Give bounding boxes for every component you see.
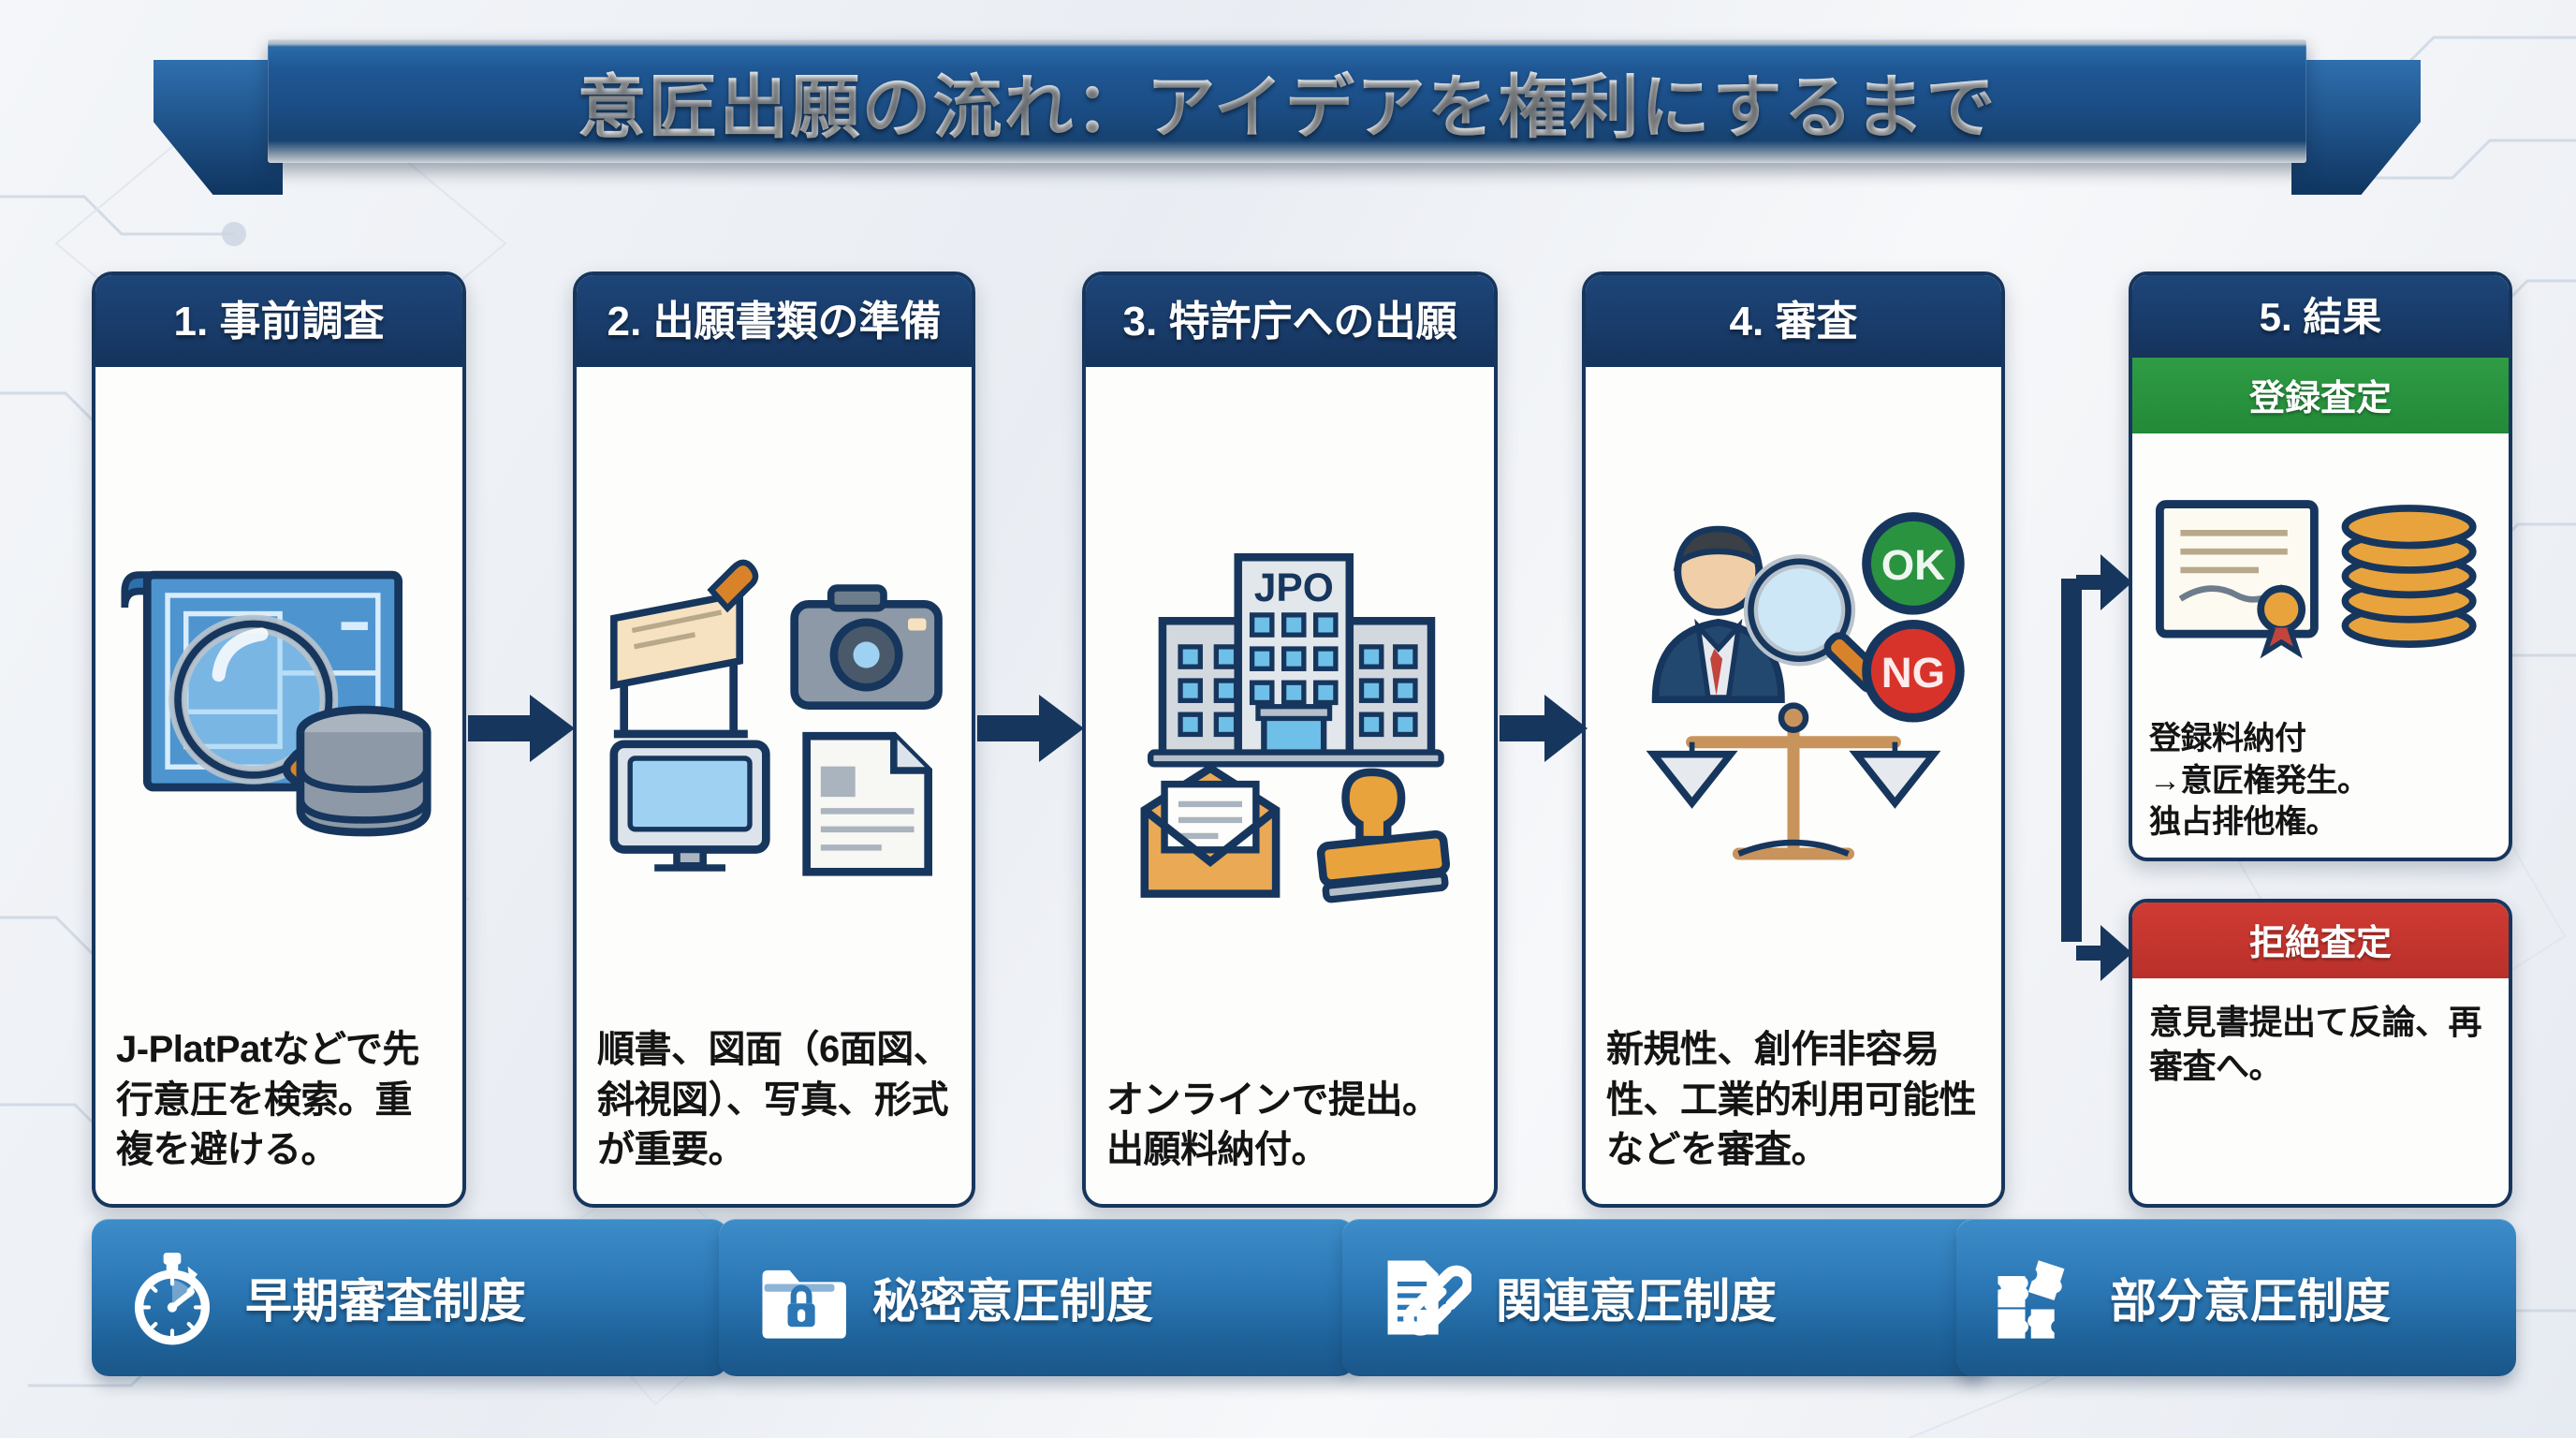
card-2-illustration xyxy=(577,367,972,1010)
stopwatch-icon xyxy=(124,1249,221,1346)
card-1-body: J-PlatPatなどで先行意圧を検索。重複を避ける。 xyxy=(95,1010,462,1204)
envelope-icon xyxy=(1145,769,1276,894)
building-label: JPO xyxy=(1254,566,1334,610)
card-4-heading: 4. 審査 xyxy=(1586,275,2001,367)
stamp-icon xyxy=(1320,772,1446,900)
ok-badge-icon: OK xyxy=(1866,517,1960,610)
flow-step-card-1: 1. 事前調査 xyxy=(92,271,466,1208)
certificate-coins-icons xyxy=(2145,441,2495,710)
feature-pill-early-exam[interactable]: 早期審査制度 xyxy=(92,1219,728,1376)
coins-icon xyxy=(2345,507,2472,643)
pill-2-label: 秘密意圧制度 xyxy=(872,1264,1153,1331)
pill-4-label: 部分意圧制度 xyxy=(2110,1264,2391,1331)
accept-body: 登録料納付 →意匠権発生。 独占排他権。 xyxy=(2132,709,2509,858)
drafting-table-icon xyxy=(614,563,755,734)
examination-icons: OK NG xyxy=(1601,376,1986,1010)
flow-step-card-2: 2. 出願書類の準備 xyxy=(573,271,975,1208)
card-5-heading: 5. 結果 xyxy=(2132,275,2509,358)
result-card-reject: 拒絶査定 意見書提出て反論、再審査へ。 xyxy=(2129,899,2512,1208)
document-preparation-icons xyxy=(592,376,957,1010)
arrow-1-to-2 xyxy=(468,693,577,764)
jpo-building-icon: JPO xyxy=(1150,557,1441,764)
card-2-heading: 2. 出願書類の準備 xyxy=(577,275,972,367)
jpo-filing-icons: JPO xyxy=(1101,376,1479,1061)
flow-step-card-4: 4. 審査 OK NG xyxy=(1582,271,2005,1208)
card-4-illustration: OK NG xyxy=(1586,367,2001,1010)
feature-pill-partial-design[interactable]: 部分意圧制度 xyxy=(1956,1219,2516,1376)
ng-badge-icon: NG xyxy=(1866,624,1960,718)
pill-3-label: 関連意圧制度 xyxy=(1496,1264,1777,1331)
result-card-accept: 5. 結果 登録査定 登録料納付 →意匠権発生。 独占排他権。 xyxy=(2129,271,2512,861)
certificate-icon xyxy=(2159,504,2314,652)
arrow-2-to-3 xyxy=(977,693,1086,764)
feature-pill-secret-design[interactable]: 秘密意圧制度 xyxy=(719,1219,1355,1376)
arrow-3-to-4 xyxy=(1500,693,1588,764)
document-icon xyxy=(807,736,929,872)
card-2-body: 順書、図面（6面図、斜視図）、写真、形式が重要。 xyxy=(577,1010,972,1204)
scales-icon xyxy=(1653,706,1933,854)
card-3-heading: 3. 特許庁への出願 xyxy=(1086,275,1494,367)
puzzle-icon xyxy=(1988,1249,2086,1346)
title-banner: 意匠出願の流れ：アイデアを権利にするまで xyxy=(268,39,2306,163)
blueprint-magnifier-icon xyxy=(110,376,447,1010)
accept-illustration xyxy=(2132,433,2509,710)
monitor-icon xyxy=(614,744,767,868)
document-link-icon xyxy=(1374,1249,1471,1346)
reject-body: 意見書提出て反論、再審査へ。 xyxy=(2132,978,2509,1104)
camera-icon xyxy=(795,588,939,706)
arrow-4-to-result xyxy=(2007,524,2134,1030)
pill-1-label: 早期審査制度 xyxy=(245,1264,526,1331)
page-title: 意匠出願の流れ：アイデアを権利にするまで xyxy=(268,39,2306,163)
examiner-magnifier-icon xyxy=(1656,529,1886,699)
card-3-illustration: JPO xyxy=(1086,367,1494,1061)
flow-step-card-3: 3. 特許庁への出願 JPO xyxy=(1082,271,1498,1208)
lock-folder-icon xyxy=(751,1249,848,1346)
card-4-body: 新規性、創作非容易性、工業的利用可能性などを審査。 xyxy=(1586,1010,2001,1204)
database-icon xyxy=(300,710,427,832)
card-1-illustration xyxy=(95,367,462,1010)
ng-badge-label: NG xyxy=(1881,649,1945,697)
feature-pill-related-design[interactable]: 関連意圧制度 xyxy=(1342,1219,1988,1376)
accept-banner: 登録査定 xyxy=(2132,358,2509,433)
card-3-body: オンラインで提出。出願料納付。 xyxy=(1086,1061,1494,1204)
ok-badge-label: OK xyxy=(1881,541,1945,589)
card-1-heading: 1. 事前調査 xyxy=(95,275,462,367)
reject-banner: 拒絶査定 xyxy=(2132,902,2509,978)
